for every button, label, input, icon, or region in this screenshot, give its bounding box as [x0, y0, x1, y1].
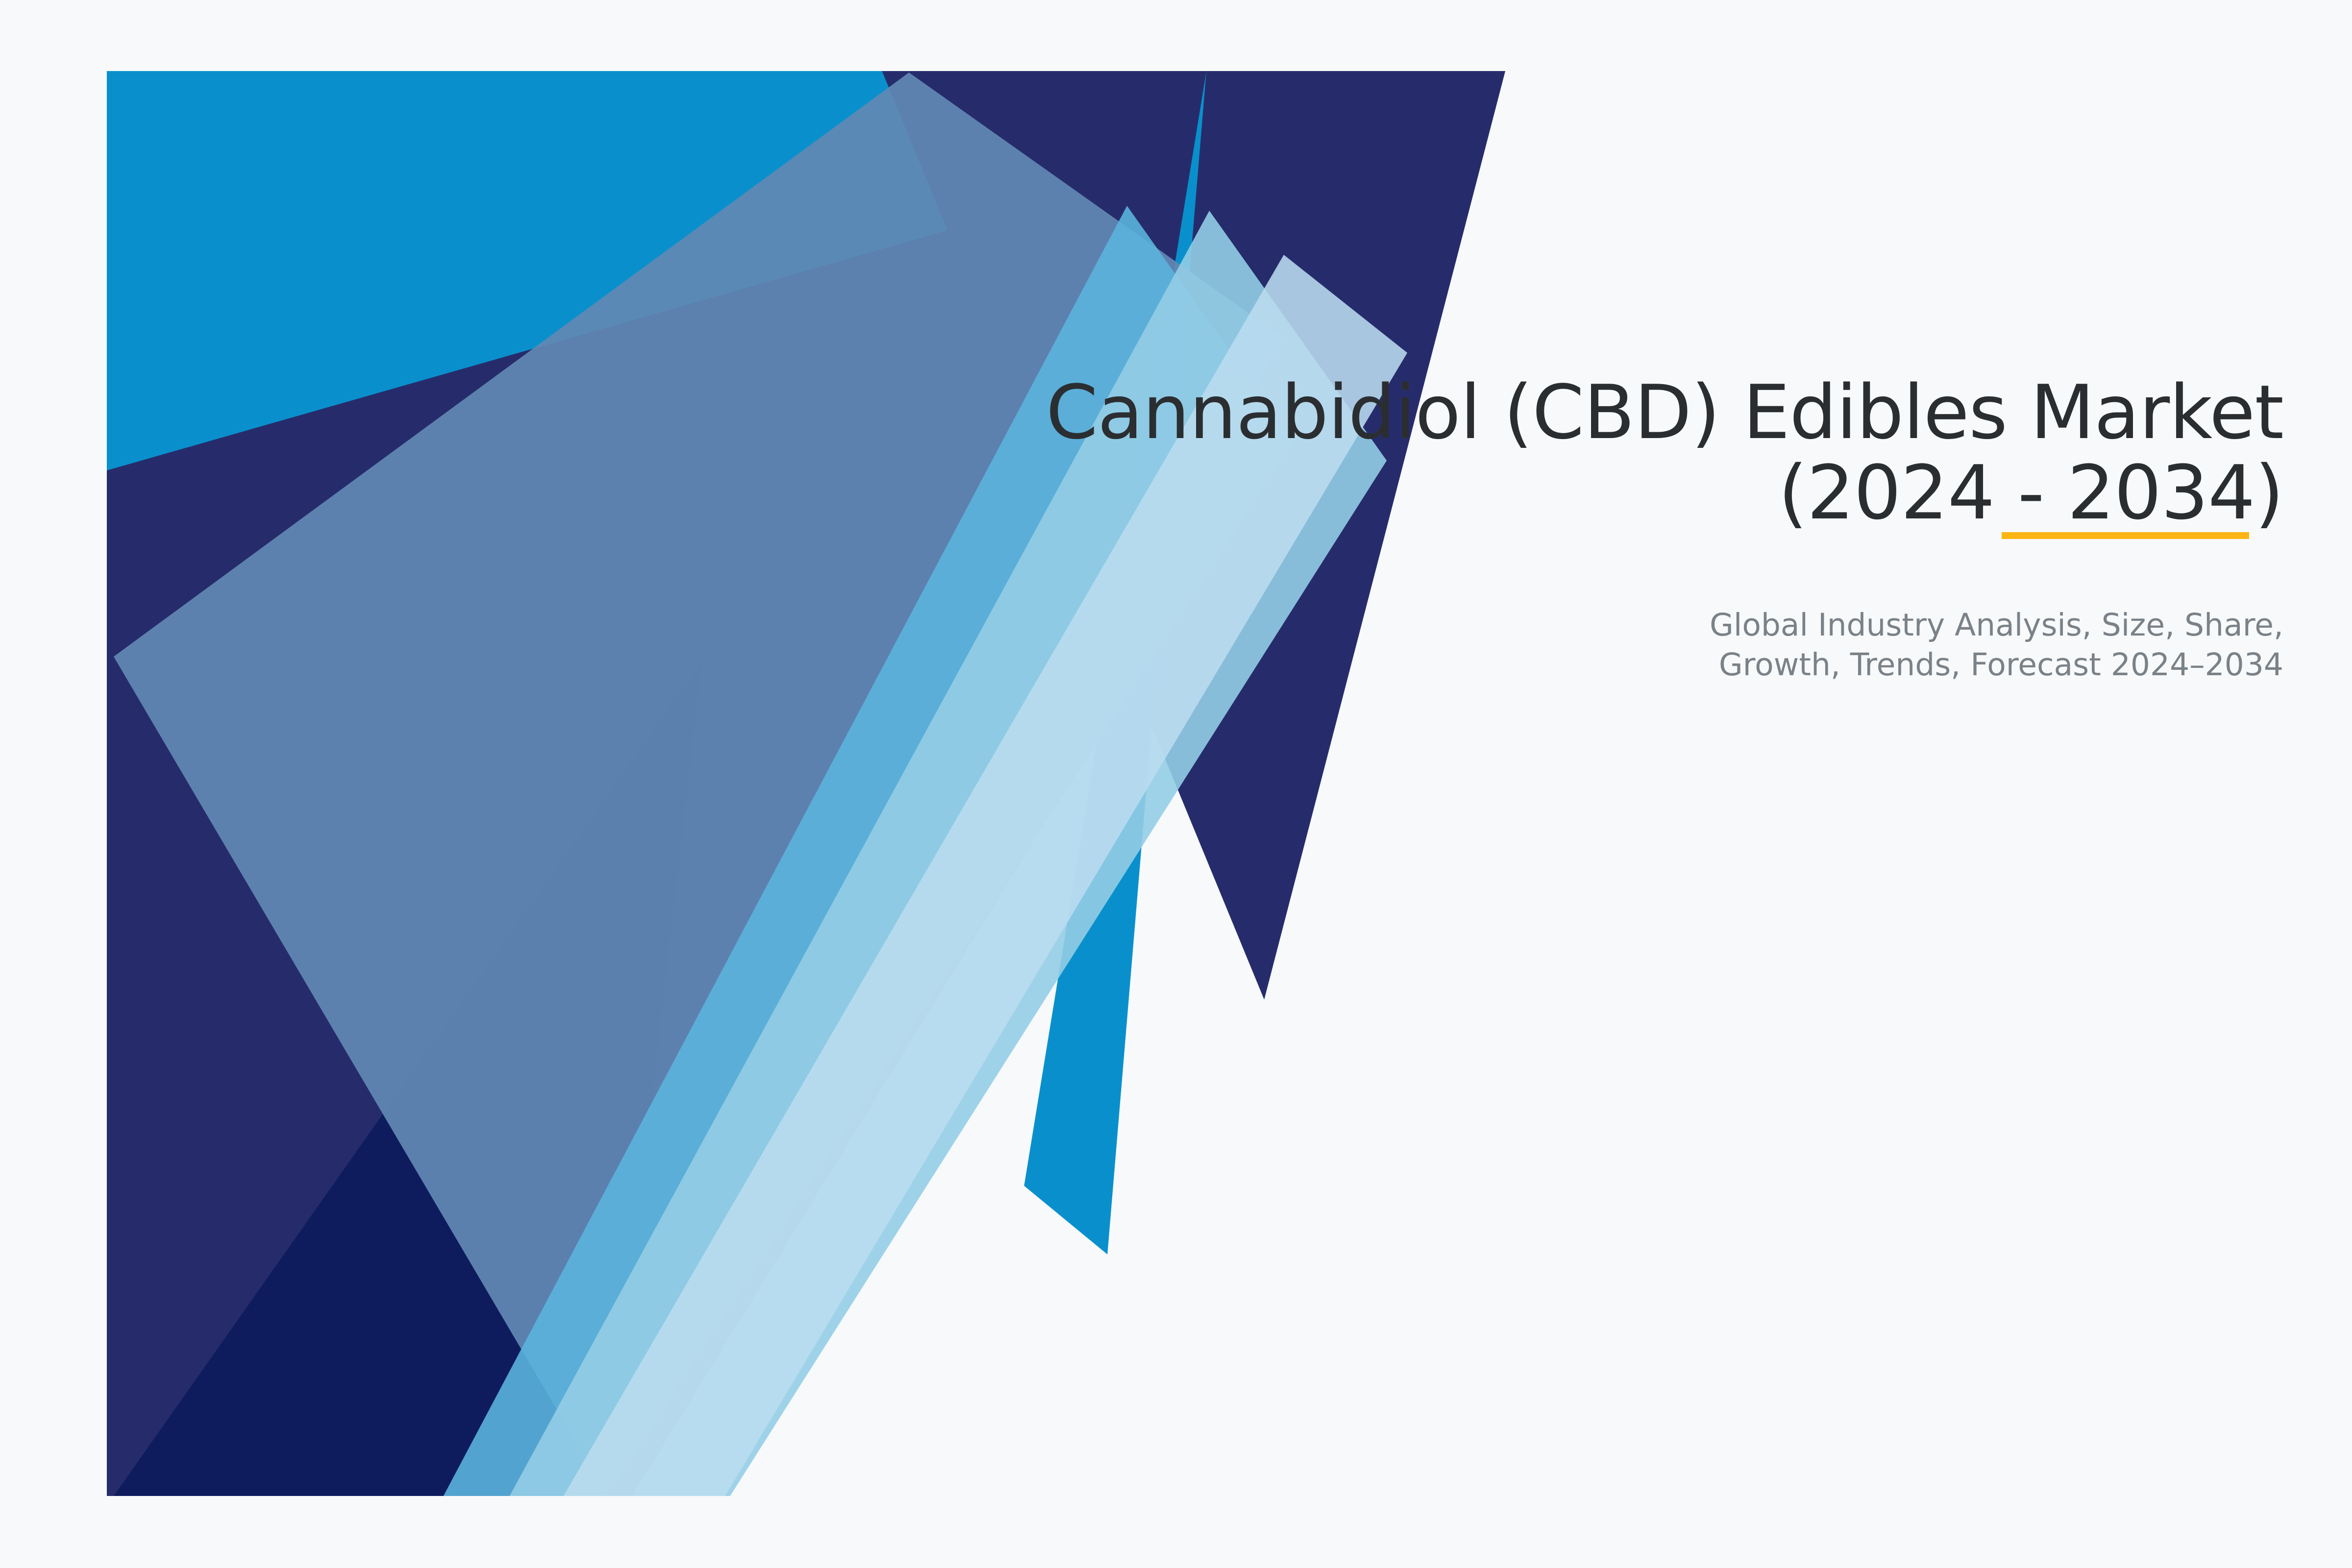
page-subtitle: Global Industry Analysis, Size, Share, G…: [960, 533, 2283, 685]
title-underline-accent: [2002, 532, 2249, 539]
cover-text-block: Cannabidiol (CBD) Edibles Market (2024 -…: [960, 372, 2283, 685]
title-wrapper: Cannabidiol (CBD) Edibles Market (2024 -…: [960, 372, 2283, 533]
page-title: Cannabidiol (CBD) Edibles Market (2024 -…: [960, 372, 2283, 533]
abstract-polygon-graphic: [0, 0, 2352, 1568]
report-cover: Cannabidiol (CBD) Edibles Market (2024 -…: [0, 0, 2352, 1568]
